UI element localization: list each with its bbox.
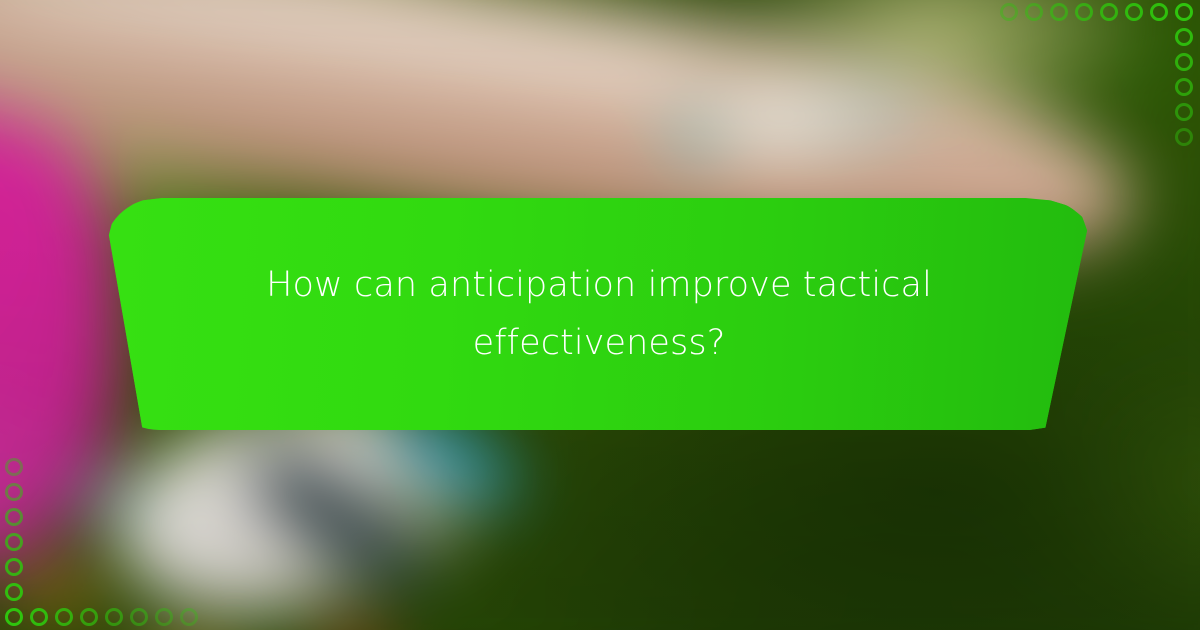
question-text: How can anticipation improve tactical ef…	[173, 256, 1025, 372]
screenshot-canvas: How can anticipation improve tactical ef…	[0, 0, 1200, 630]
decor-ring	[5, 583, 23, 601]
decor-ring	[55, 608, 73, 626]
decor-dots-top-right	[985, 0, 1200, 175]
decor-ring	[1175, 103, 1193, 121]
decor-ring	[1175, 78, 1193, 96]
decor-ring	[180, 608, 198, 626]
decor-ring	[1175, 128, 1193, 146]
decor-ring	[1075, 3, 1093, 21]
decor-ring	[5, 608, 23, 626]
decor-ring	[1125, 3, 1143, 21]
decor-ring	[1050, 3, 1068, 21]
decor-ring	[130, 608, 148, 626]
decor-ring	[5, 458, 23, 476]
decor-ring	[1150, 3, 1168, 21]
decor-ring	[1175, 28, 1193, 46]
decor-ring	[1175, 3, 1193, 21]
decor-ring	[5, 483, 23, 501]
decor-dots-bottom-left	[0, 425, 215, 630]
decor-ring	[155, 608, 173, 626]
decor-ring	[105, 608, 123, 626]
decor-ring	[1000, 3, 1018, 21]
decor-ring	[1175, 53, 1193, 71]
decor-ring	[80, 608, 98, 626]
question-card: How can anticipation improve tactical ef…	[103, 198, 1095, 430]
decor-ring	[5, 558, 23, 576]
decor-ring	[1100, 3, 1118, 21]
decor-ring	[30, 608, 48, 626]
decor-ring	[5, 533, 23, 551]
decor-ring	[5, 508, 23, 526]
decor-ring	[1025, 3, 1043, 21]
